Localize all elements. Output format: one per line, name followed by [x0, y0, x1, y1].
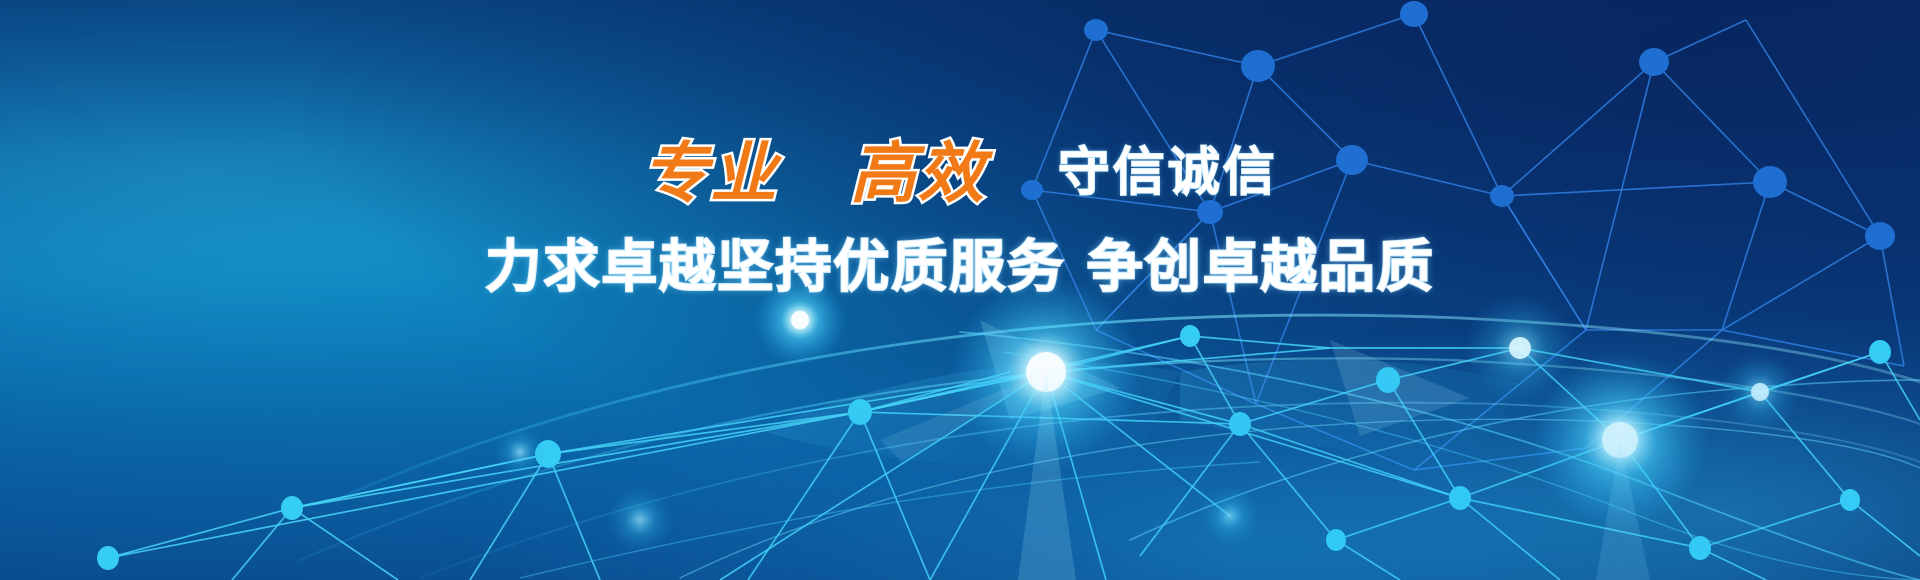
headline-block: 专业 高效 守信诚信 力求卓越坚持优质服务 争创卓越品质: [0, 136, 1920, 303]
headline-word-zhuanye: 专业: [642, 134, 778, 212]
headline-word-gaoxiao: 高效: [850, 134, 986, 212]
headline-word-shouxinchengxin: 守信诚信: [1058, 143, 1278, 203]
hero-banner: 专业 高效 守信诚信 力求卓越坚持优质服务 争创卓越品质: [0, 0, 1920, 580]
headline-line-1: 专业 高效 守信诚信: [0, 136, 1920, 216]
headline-line-2: 力求卓越坚持优质服务 争创卓越品质: [0, 222, 1920, 303]
